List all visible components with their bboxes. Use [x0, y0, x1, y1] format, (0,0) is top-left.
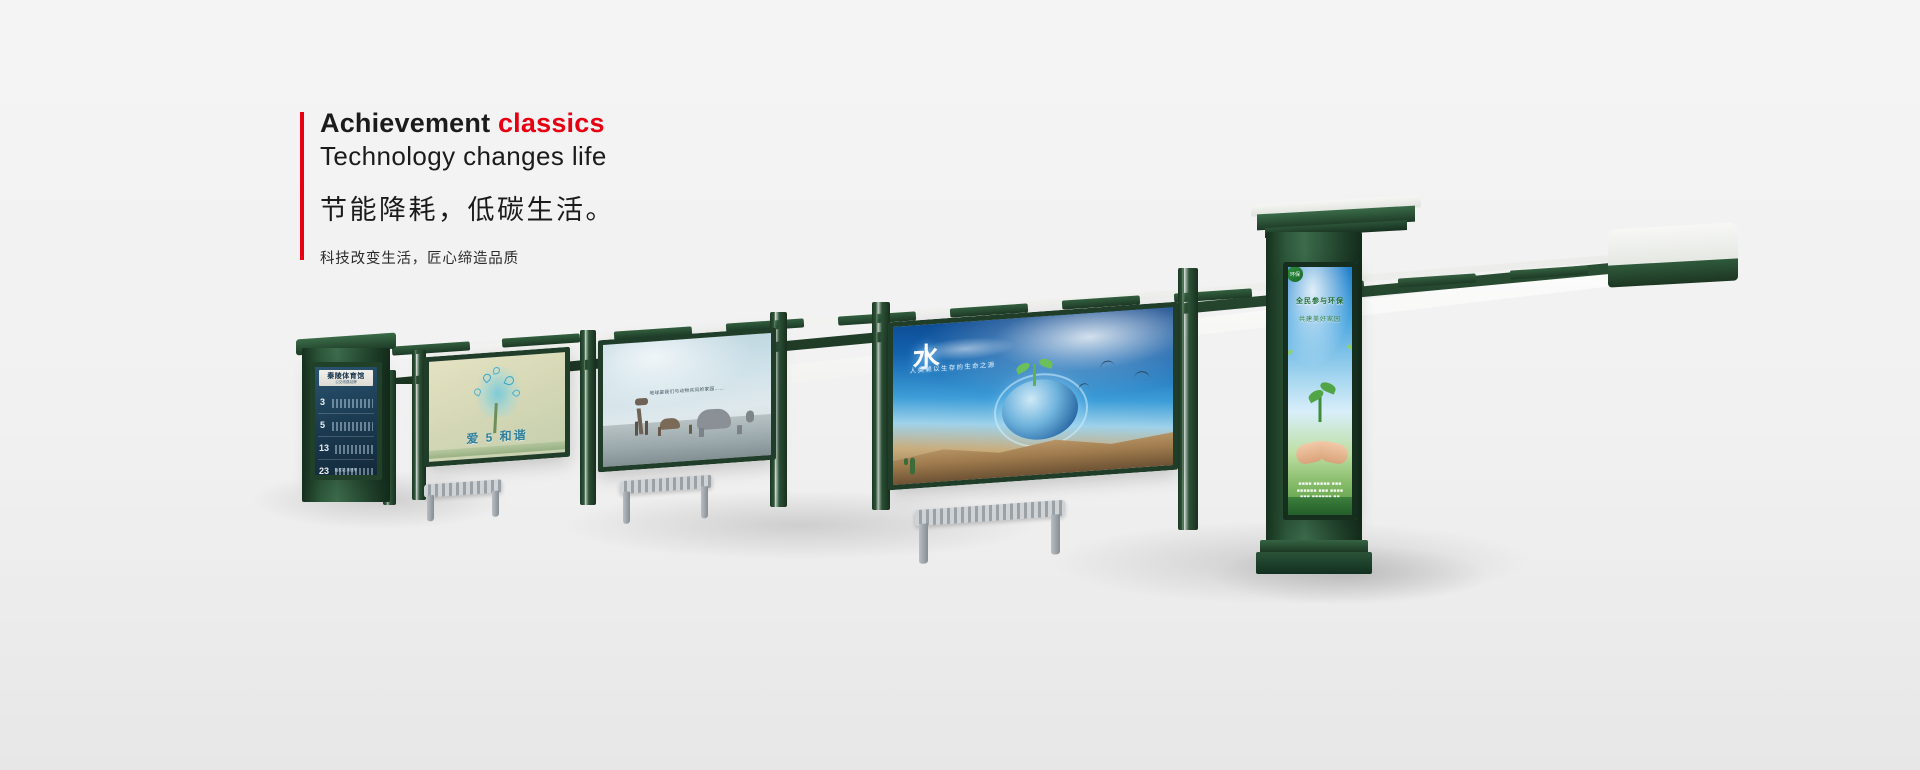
- bench-leg: [1051, 514, 1060, 555]
- bus-shelter-render: 秦陵体育馆 公交线路站牌 3 5 13: [0, 0, 1920, 770]
- shelter-post: [580, 330, 596, 505]
- ground-shadow-mid: [560, 490, 1040, 560]
- bench-leg: [701, 486, 708, 518]
- bench-leg: [623, 492, 630, 524]
- bench-2: [620, 475, 712, 481]
- panel-ad-animals[interactable]: 地球是我们与动物共同的家园……: [598, 328, 776, 473]
- panel-vertical-display[interactable]: 环保 全民参与环保 共建美好家园 ■■■■ ■■■: [1283, 262, 1357, 520]
- panel-timetable[interactable]: 秦陵体育馆 公交线路站牌 3 5 13: [310, 362, 382, 480]
- bench-leg: [427, 495, 434, 521]
- bench-leg: [919, 523, 928, 564]
- panel-ad-tree[interactable]: 爱 5 和谐: [424, 347, 570, 467]
- banner-stage: Achievement classics Technology changes …: [0, 0, 1920, 770]
- bench-leg: [492, 490, 499, 516]
- shelter-post: [1178, 268, 1198, 530]
- kiosk-base: [1256, 552, 1372, 574]
- panel-ad-water[interactable]: 水 人类赖以生存的生命之源: [888, 302, 1178, 491]
